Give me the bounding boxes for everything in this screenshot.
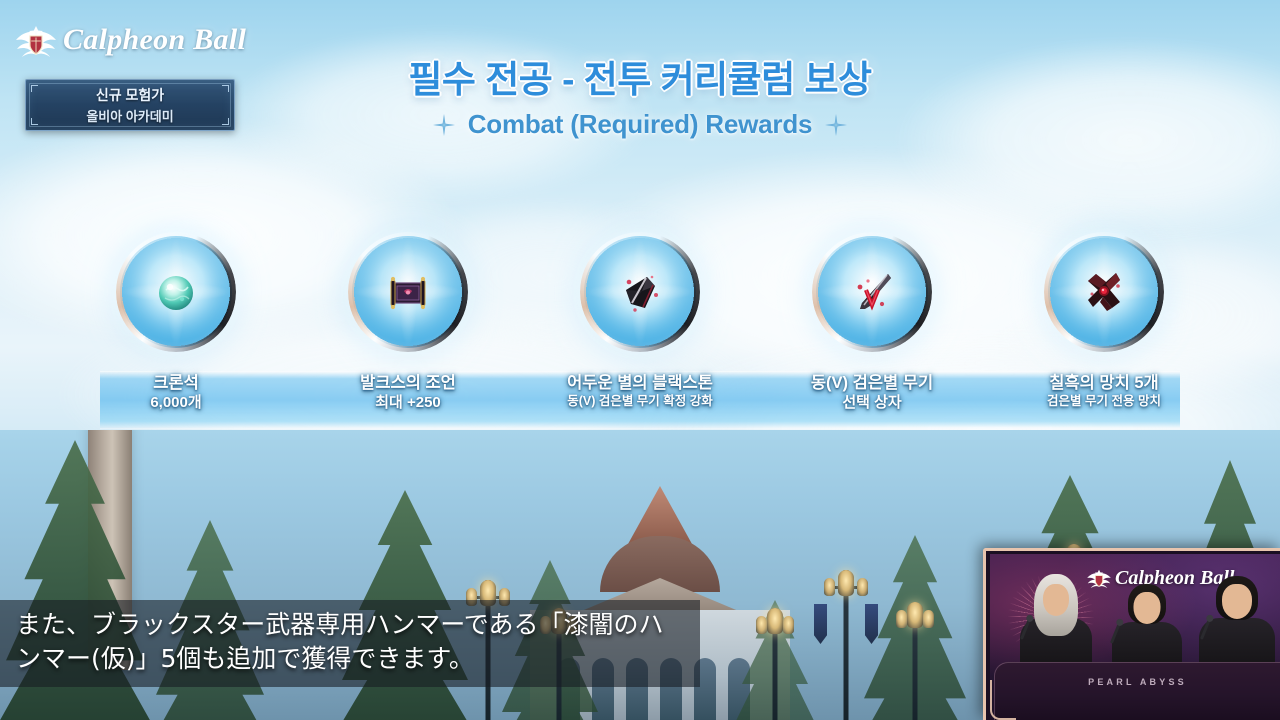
four-point-sparkle-icon <box>825 114 847 136</box>
reward-name: 발크스의 조언 <box>360 373 456 393</box>
page-title: 필수 전공 - 전투 커리큘럼 보상 <box>0 58 1280 102</box>
street-lamp <box>758 608 792 720</box>
subtitle-row: Combat (Required) Rewards <box>0 109 1280 140</box>
reward-icon-frame <box>816 236 928 348</box>
page-subtitle: Combat (Required) Rewards <box>468 109 813 140</box>
reward-labels: 크론석 6,000개 <box>150 373 201 412</box>
reward-icon-frame <box>120 236 232 348</box>
reward-icon-frame <box>1048 236 1160 348</box>
picture-in-picture-video[interactable]: Calpheon Ball <box>983 548 1280 720</box>
reward-note: 검은별 무기 전용 망치 <box>1047 394 1161 409</box>
panelist <box>1198 572 1276 664</box>
reward-name: 크론석 <box>150 373 201 393</box>
brand-name: Calpheon Ball <box>63 25 246 55</box>
pip-lower-third: PEARL ABYSS <box>994 662 1280 720</box>
reward-item[interactable]: 크론석 6,000개 <box>60 236 292 412</box>
reward-labels: 발크스의 조언 최대 +250 <box>360 373 456 412</box>
slide-header: 필수 전공 - 전투 커리큘럼 보상 Combat (Required) Rew… <box>0 58 1280 140</box>
subtitle-line-1: また、ブラックスター武器専用ハンマーである「漆闇のハ <box>16 608 684 642</box>
reward-name: 칠흑의 망치 5개 <box>1047 373 1161 393</box>
subtitle-overlay: また、ブラックスター武器専用ハンマーである「漆闇のハ ンマー(仮)」5個も追加で… <box>0 600 700 687</box>
panelist-group <box>990 572 1280 664</box>
panelist <box>1018 572 1094 664</box>
reward-amount: 최대 +250 <box>360 394 456 412</box>
dark-star-black-stone-icon <box>612 264 668 320</box>
broadcast-slide: Calpheon Ball 신규 모험가 올비아 아카데미 필수 전공 - 전투… <box>0 0 1280 720</box>
calpheon-ball-logo: Calpheon Ball <box>14 20 246 60</box>
pip-stage-background: Calpheon Ball <box>990 554 1280 720</box>
reward-amount: 선택 상자 <box>811 394 933 412</box>
subtitle-line-2: ンマー(仮)」5個も追加で獲得できます。 <box>16 642 684 676</box>
reward-item[interactable]: 칠흑의 망치 5개 검은별 무기 전용 망치 <box>988 236 1220 409</box>
reward-name: 어두운 별의 블랙스톤 <box>567 373 713 393</box>
reward-name: 동(V) 검은별 무기 <box>811 373 933 393</box>
studio-name: PEARL ABYSS <box>995 677 1280 687</box>
reward-item[interactable]: 어두운 별의 블랙스톤 동(V) 검은별 무기 확정 강화 <box>524 236 756 409</box>
valks-advice-scroll-icon <box>380 264 436 320</box>
reward-item[interactable]: 동(V) 검은별 무기 선택 상자 <box>756 236 988 412</box>
panelist <box>1110 576 1184 664</box>
reward-labels: 칠흑의 망치 5개 검은별 무기 전용 망치 <box>1047 373 1161 409</box>
reward-icon-frame <box>584 236 696 348</box>
winged-shield-crest-icon <box>14 20 58 60</box>
pitch-black-hammer-icon <box>1076 264 1132 320</box>
reward-labels: 어두운 별의 블랙스톤 동(V) 검은별 무기 확정 강화 <box>567 373 713 409</box>
blackstar-weapon-box-icon <box>844 264 900 320</box>
reward-labels: 동(V) 검은별 무기 선택 상자 <box>811 373 933 412</box>
pip-corner-ornament <box>990 680 1016 720</box>
reward-amount: 6,000개 <box>150 394 201 412</box>
reward-list: 크론석 6,000개 <box>60 236 1220 431</box>
street-lamp <box>826 570 866 720</box>
cron-stone-icon <box>148 264 204 320</box>
reward-note: 동(V) 검은별 무기 확정 강화 <box>567 394 713 409</box>
street-lamp <box>898 602 932 720</box>
reward-icon-frame <box>352 236 464 348</box>
four-point-sparkle-icon <box>433 114 455 136</box>
reward-item[interactable]: 발크스의 조언 최대 +250 <box>292 236 524 412</box>
